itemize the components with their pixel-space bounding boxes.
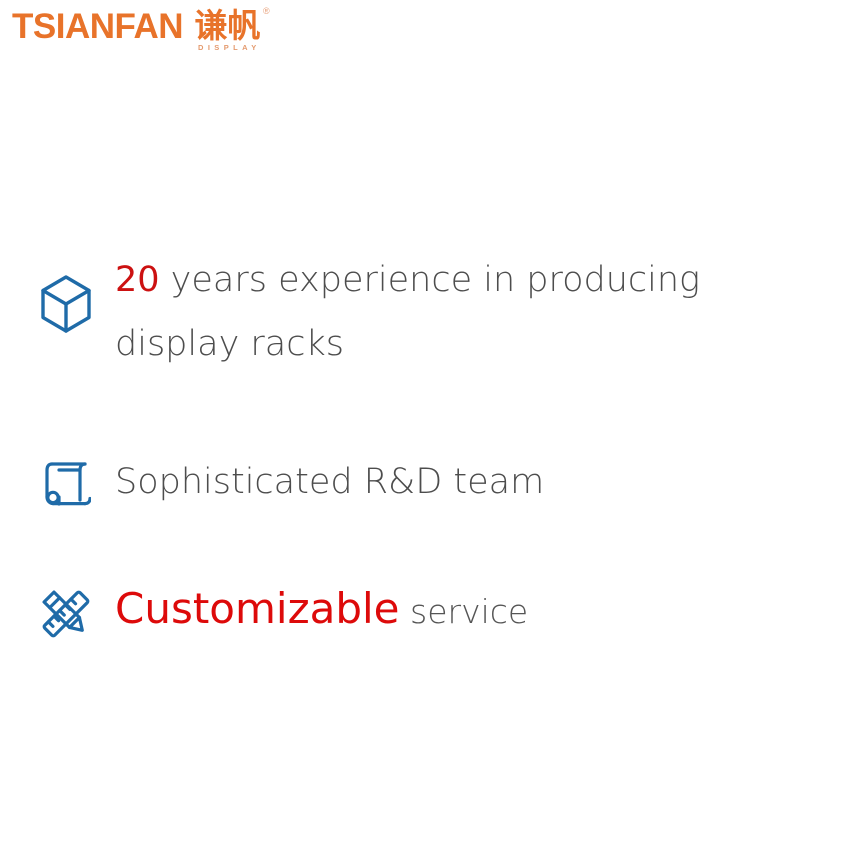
brand-chinese-name: 谦帆	[194, 8, 260, 44]
feature-text-rnd: Sophisticated R&D team	[102, 454, 544, 510]
feature-item-customizable: Customizable service	[0, 580, 850, 642]
customizable-text: service	[400, 592, 529, 631]
feature-item-experience: 20 years experience in producing display…	[0, 248, 850, 376]
brand-sub-label: DISPLAY	[194, 43, 261, 52]
cube-icon	[30, 248, 102, 334]
brand-logo: TSIANFAN 谦帆 DISPLAY ®	[12, 8, 261, 52]
rnd-text: Sophisticated R&D team	[115, 462, 544, 502]
customizable-highlight: Customizable	[115, 584, 400, 633]
brand-wordmark: TSIANFAN	[12, 8, 183, 46]
experience-text-line2: display racks	[115, 324, 344, 364]
feature-item-rnd: Sophisticated R&D team	[0, 454, 850, 512]
registered-trademark-icon: ®	[263, 7, 270, 16]
experience-years-value: 20	[115, 260, 160, 300]
ruler-pencil-icon	[30, 580, 102, 642]
feature-list: 20 years experience in producing display…	[0, 248, 850, 642]
feature-text-experience: 20 years experience in producing display…	[102, 248, 700, 376]
experience-text-line1: years experience in producing	[160, 260, 701, 300]
brand-chinese-block: 谦帆 DISPLAY ®	[194, 8, 261, 52]
feature-text-customizable: Customizable service	[102, 580, 528, 641]
blueprint-scroll-icon	[30, 454, 102, 512]
